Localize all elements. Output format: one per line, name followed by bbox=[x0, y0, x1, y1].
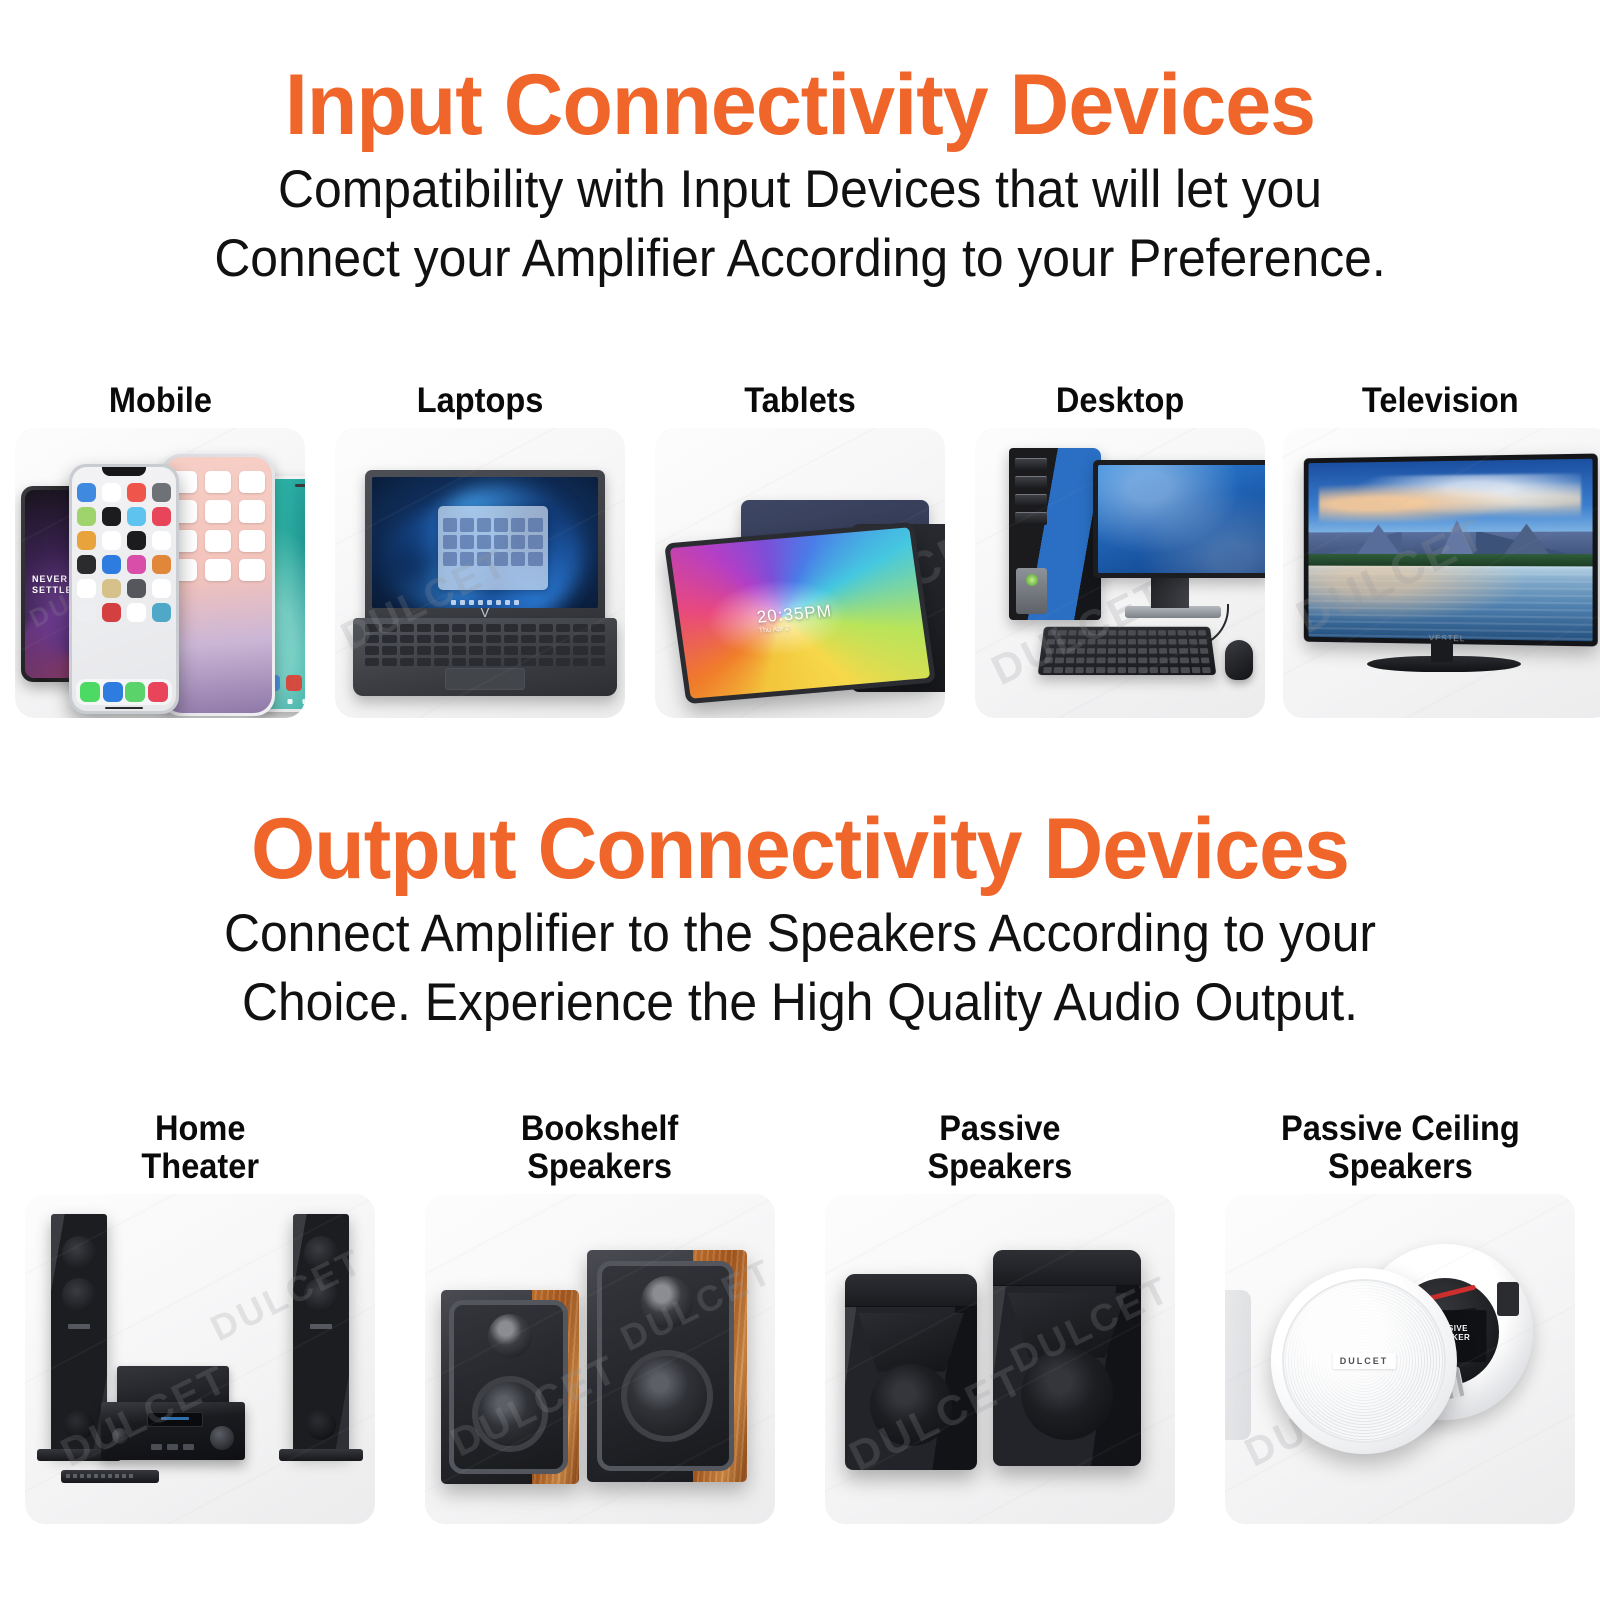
output-section-subtitle-line1: Connect Amplifier to the Speakers Accord… bbox=[48, 900, 1552, 969]
bookshelf-speaker-icon: DULCET DULCET bbox=[425, 1194, 775, 1524]
device-label-desktop: Desktop bbox=[1056, 382, 1184, 420]
output-device-row: Home Theater DULCET DULCET bbox=[0, 1110, 1600, 1524]
device-card-television[interactable]: Television VESTEL bbox=[1280, 382, 1600, 718]
device-card-laptops[interactable]: Laptops V bbox=[320, 382, 640, 718]
device-label-passive-speakers: Passive Speakers bbox=[928, 1110, 1073, 1186]
home-theater-icon: DULCET DULCET bbox=[25, 1194, 375, 1524]
ceiling-grille-badge: DULCET bbox=[1333, 1353, 1396, 1369]
output-section-header: Output Connectivity Devices Connect Ampl… bbox=[0, 806, 1600, 1038]
device-label-passive-ceiling-speakers: Passive Ceiling Speakers bbox=[1281, 1110, 1520, 1186]
passive-speaker-icon: DULCET DULCET bbox=[825, 1194, 1175, 1524]
device-card-bookshelf-speakers[interactable]: Bookshelf Speakers DULCET DULCET bbox=[400, 1110, 800, 1524]
device-card-home-theater[interactable]: Home Theater DULCET DULCET bbox=[0, 1110, 400, 1524]
input-device-row: Mobile NEVER SETTLE bbox=[0, 382, 1600, 718]
input-section-header: Input Connectivity Devices Compatibility… bbox=[0, 62, 1600, 294]
device-label-mobile: Mobile bbox=[108, 382, 211, 420]
device-label-tablets: Tablets bbox=[744, 382, 856, 420]
input-section-title: Input Connectivity Devices bbox=[32, 62, 1568, 148]
tablet-icon: 20:35PM Thu Apr 2 DULCET bbox=[655, 428, 945, 718]
television-icon: VESTEL DULCET bbox=[1283, 428, 1600, 718]
device-label-bookshelf-speakers: Bookshelf Speakers bbox=[521, 1110, 678, 1186]
infographic-page: Input Connectivity Devices Compatibility… bbox=[0, 0, 1600, 1600]
device-card-passive-speakers[interactable]: Passive Speakers DULCET DULCET bbox=[800, 1110, 1200, 1524]
desktop-computer-icon: DULCET bbox=[975, 428, 1265, 718]
ceiling-speaker-icon: PASSIVE SPEAKER DULCET DULCET bbox=[1225, 1194, 1575, 1524]
laptop-icon: V DULCET bbox=[335, 428, 625, 718]
device-card-desktop[interactable]: Desktop bbox=[960, 382, 1280, 718]
input-section-subtitle-line1: Compatibility with Input Devices that wi… bbox=[48, 156, 1552, 225]
device-label-home-theater: Home Theater bbox=[141, 1110, 259, 1186]
output-section-title: Output Connectivity Devices bbox=[32, 806, 1568, 892]
smartphone-icon: NEVER SETTLE bbox=[15, 428, 305, 718]
output-section-subtitle-line2: Choice. Experience the High Quality Audi… bbox=[48, 969, 1552, 1038]
device-label-laptops: Laptops bbox=[417, 382, 544, 420]
input-section-subtitle-line2: Connect your Amplifier According to your… bbox=[48, 225, 1552, 294]
device-label-television: Television bbox=[1362, 382, 1519, 420]
iphone-x-phone bbox=[69, 464, 179, 714]
device-card-passive-ceiling-speakers[interactable]: Passive Ceiling Speakers PASSIVE SPEAKER bbox=[1200, 1110, 1600, 1524]
device-card-mobile[interactable]: Mobile NEVER SETTLE bbox=[0, 382, 320, 718]
device-card-tablets[interactable]: Tablets 20:35PM Thu Apr 2 DULCET bbox=[640, 382, 960, 718]
